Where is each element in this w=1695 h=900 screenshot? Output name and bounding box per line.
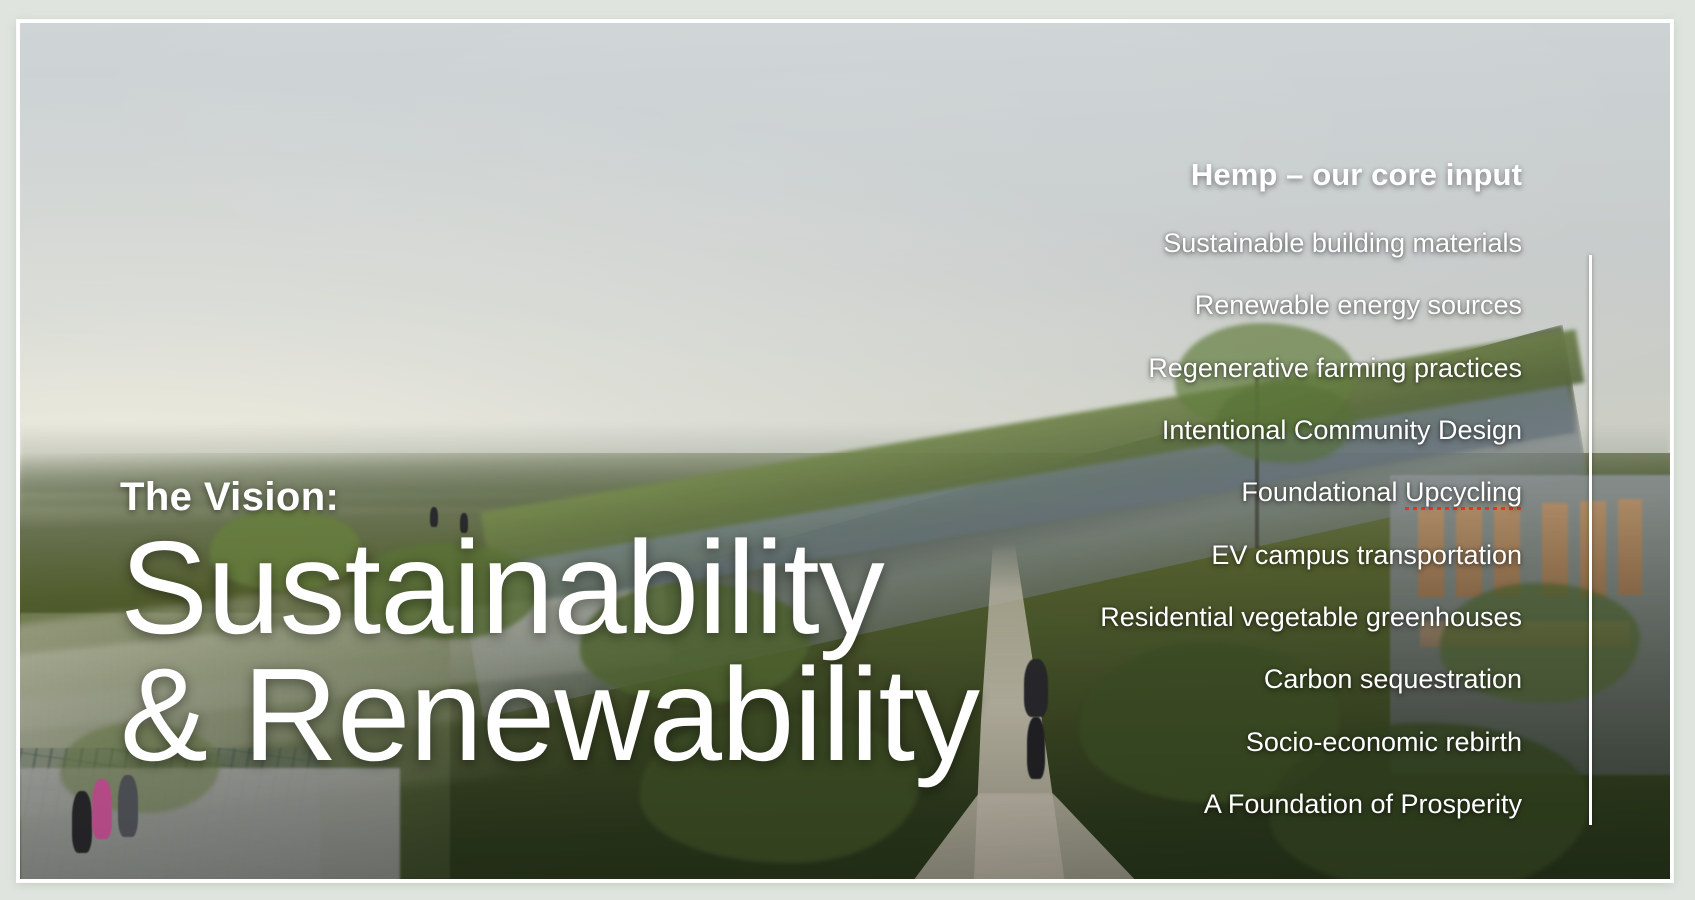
slide-canvas: The Vision: Sustainability & Renewabilit… bbox=[20, 23, 1670, 879]
vision-block: The Vision: Sustainability & Renewabilit… bbox=[120, 475, 1050, 778]
hemp-list-item[interactable]: Foundational Upcycling bbox=[962, 478, 1522, 506]
page-title: Sustainability & Renewability bbox=[120, 525, 1050, 778]
hemp-list-item[interactable]: Sustainable building materials bbox=[962, 229, 1522, 257]
headline-line-1: Sustainability bbox=[120, 525, 1050, 652]
hemp-list-item[interactable]: Socio-economic rebirth bbox=[962, 728, 1522, 756]
hemp-list-item[interactable]: A Foundation of Prosperity bbox=[962, 790, 1522, 818]
hemp-list-item[interactable]: Intentional Community Design bbox=[962, 416, 1522, 444]
hemp-list-item[interactable]: Regenerative farming practices bbox=[962, 354, 1522, 382]
hemp-list-item[interactable]: Renewable energy sources bbox=[962, 291, 1522, 319]
hemp-list-item[interactable]: Carbon sequestration bbox=[962, 665, 1522, 693]
hemp-list: Sustainable building materialsRenewable … bbox=[962, 229, 1522, 818]
vision-eyebrow: The Vision: bbox=[120, 475, 1050, 519]
hemp-panel: Hemp – our core input Sustainable buildi… bbox=[962, 157, 1522, 818]
hemp-list-item[interactable]: EV campus transportation bbox=[962, 541, 1522, 569]
spellcheck-misspelled-word[interactable]: Upcycling bbox=[1405, 477, 1522, 510]
hemp-list-item-label: Foundational bbox=[1241, 477, 1405, 507]
hemp-title: Hemp – our core input bbox=[962, 157, 1522, 193]
headline-line-2: & Renewability bbox=[120, 652, 1050, 779]
slide-frame: The Vision: Sustainability & Renewabilit… bbox=[17, 20, 1673, 882]
hemp-list-item[interactable]: Residential vegetable greenhouses bbox=[962, 603, 1522, 631]
vertical-accent-rule bbox=[1589, 255, 1592, 825]
